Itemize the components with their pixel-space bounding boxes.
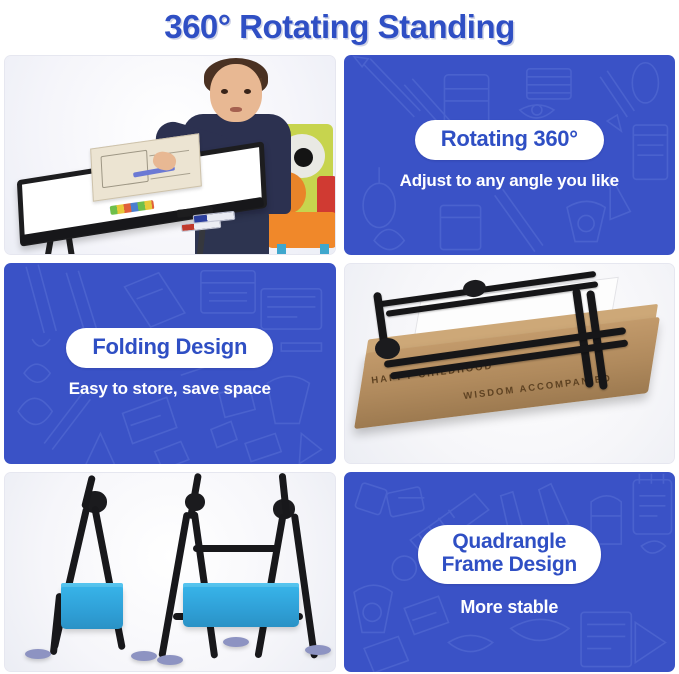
infographic-page: 360° Rotating Standing <box>0 0 679 674</box>
child-eye-left <box>221 89 228 94</box>
child-head <box>210 64 262 122</box>
panel-quadrangle-photo <box>4 472 336 672</box>
rubber-foot-right-a <box>157 655 183 665</box>
feature-subcaption-folding: Easy to store, save space <box>69 379 271 399</box>
storage-bin-right <box>183 587 299 627</box>
rubber-foot-left-b <box>131 651 157 661</box>
quad-hinge-left <box>185 493 205 511</box>
owl-chair-leg-left <box>277 244 286 255</box>
panel-quadrangle-text: Quadrangle Frame Design More stable <box>344 472 676 672</box>
owl-chair-leg-right <box>320 244 329 255</box>
rubber-foot-right-c <box>305 645 331 655</box>
feature-subcaption-rotating: Adjust to any angle you like <box>400 171 619 191</box>
storage-bin-left <box>61 587 123 629</box>
child-mouth <box>230 107 242 112</box>
panel-content: Quadrangle Frame Design More stable <box>344 525 676 618</box>
panel-content: Rotating 360° Adjust to any angle you li… <box>344 120 676 191</box>
child-eye-right <box>244 89 251 94</box>
feature-pill-rotating: Rotating 360° <box>415 120 604 160</box>
panel-folding-photo: HAPPY CHILDHOOD WISDOM ACCOMPANIED <box>344 263 676 463</box>
feature-subcaption-quadrangle: More stable <box>460 597 558 618</box>
owl-chair-red-panel <box>317 176 336 216</box>
owl-chair-seat <box>267 212 336 248</box>
feature-pill-quadrangle: Quadrangle Frame Design <box>418 525 601 584</box>
feature-grid: Rotating 360° Adjust to any angle you li… <box>4 55 675 672</box>
owl-chair-eye-pupil <box>294 148 313 167</box>
quad-cross-brace-upper <box>193 545 279 552</box>
rubber-foot-right-b <box>223 637 249 647</box>
rubber-foot-left-a <box>25 649 51 659</box>
feature-pill-folding: Folding Design <box>66 328 273 368</box>
product-photo-child-drawing <box>5 56 335 254</box>
page-title: 360° Rotating Standing <box>164 8 515 46</box>
product-photo-folded-easel: HAPPY CHILDHOOD WISDOM ACCOMPANIED <box>345 264 675 462</box>
panel-content: Folding Design Easy to store, save space <box>4 328 336 399</box>
easel-hinge-knob-left <box>375 338 400 359</box>
header: 360° Rotating Standing <box>0 0 679 53</box>
panel-rotating-text: Rotating 360° Adjust to any angle you li… <box>344 55 676 255</box>
product-photo-leg-comparison <box>5 473 335 671</box>
panel-rotating-photo <box>4 55 336 255</box>
panel-folding-text: Folding Design Easy to store, save space <box>4 263 336 463</box>
